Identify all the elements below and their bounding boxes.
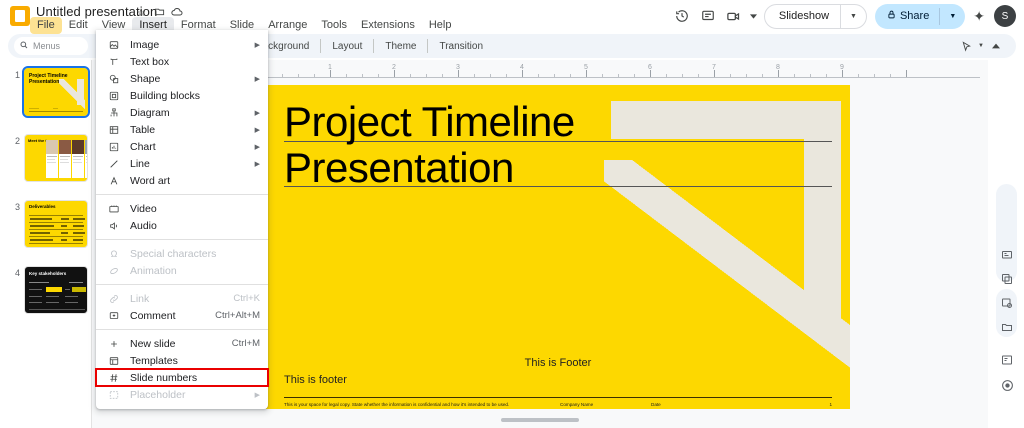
menu-tools[interactable]: Tools (314, 17, 354, 34)
menu-item-audio[interactable]: Audio (96, 217, 268, 234)
ruler-label: 7 (712, 64, 716, 71)
comment-add-icon (106, 311, 122, 321)
layout-button[interactable]: Layout (325, 39, 369, 54)
submenu-arrow-icon: ▶ (255, 391, 260, 399)
menu-item-building-blocks[interactable]: Building blocks (96, 87, 268, 104)
ruler-label: 9 (840, 64, 844, 71)
share-label: Share (900, 10, 929, 22)
table-icon (106, 125, 122, 135)
rail-group-top (996, 184, 1017, 282)
menu-item-shape[interactable]: Shape ▶ (96, 70, 268, 87)
menu-arrange[interactable]: Arrange (261, 17, 314, 34)
gemini-sparkle-icon[interactable]: ✦ (973, 8, 985, 25)
speaker-notes-icon[interactable] (998, 351, 1016, 369)
menu-item-label: Image (130, 39, 159, 51)
divider (373, 39, 374, 53)
menu-item-label: Special characters (130, 248, 216, 260)
image-search-icon[interactable] (998, 294, 1016, 312)
slide-thumbnail-4[interactable]: Key stakeholders (24, 266, 88, 314)
menu-item-placeholder[interactable]: Placeholder ▶ (96, 386, 268, 403)
menu-item-label: Word art (130, 175, 170, 187)
menu-item-shortcut: Ctrl+M (232, 338, 260, 349)
duplicate-slides-icon[interactable] (998, 270, 1016, 288)
title-line-2: Presentation (284, 145, 784, 191)
comment-history-icon[interactable] (695, 3, 721, 29)
meet-camera-icon[interactable] (721, 3, 747, 29)
title-line-1: Project Timeline (284, 99, 784, 145)
ruler-label: 1 (328, 64, 332, 71)
menu-item-shortcut: Ctrl+K (233, 293, 260, 304)
date-text[interactable]: Date (651, 402, 661, 407)
menu-item-comment[interactable]: Comment Ctrl+Alt+M (96, 307, 268, 324)
ruler-baseline (266, 77, 980, 78)
shape-icon (106, 74, 122, 84)
theme-button[interactable]: Theme (378, 39, 423, 54)
menu-item-label: Shape (130, 73, 160, 85)
submenu-arrow-icon: ▶ (255, 109, 260, 117)
menu-item-text-box[interactable]: Text box (96, 53, 268, 70)
menu-item-link[interactable]: Link Ctrl+K (96, 290, 268, 307)
submenu-arrow-icon: ▶ (255, 126, 260, 134)
company-name-text[interactable]: Company Name (560, 402, 593, 407)
search-input[interactable]: Menus (14, 37, 88, 55)
right-rail (988, 60, 1024, 428)
search-icon (20, 41, 28, 51)
ruler-label: 4 (520, 64, 524, 71)
menu-divider (96, 194, 268, 195)
share-button[interactable]: Share ▼ (875, 4, 965, 29)
transition-button[interactable]: Transition (432, 39, 490, 54)
horizontal-scrollbar[interactable] (501, 418, 579, 422)
menu-item-diagram[interactable]: Diagram ▶ (96, 104, 268, 121)
menu-item-label: Line (130, 158, 150, 170)
explore-icon[interactable] (998, 376, 1016, 394)
menu-item-label: Comment (130, 310, 176, 322)
menu-item-slide-numbers[interactable]: Slide numbers (96, 369, 268, 386)
menu-item-word-art[interactable]: Word art (96, 172, 268, 189)
slide-number: 2 (6, 136, 20, 146)
menu-item-video[interactable]: Video (96, 200, 268, 217)
top-right-controls: Slideshow ▼ Share ▼ ✦ S (669, 3, 1016, 29)
menu-item-label: Slide numbers (130, 372, 197, 384)
menu-item-image[interactable]: Image ▶ (96, 36, 268, 53)
insert-dropdown-menu[interactable]: Image ▶ Text box Shape ▶ Building blocks (96, 30, 268, 409)
footer-left-text[interactable]: This is footer (284, 374, 347, 386)
footer-rule (284, 397, 832, 398)
avatar[interactable]: S (994, 5, 1016, 27)
collapse-toolbar-chevron-up-icon[interactable] (986, 36, 1006, 56)
list-item[interactable]: 3 Deliverables (0, 200, 91, 258)
building-blocks-icon (106, 91, 122, 101)
list-item[interactable]: 2 Meet the team (0, 134, 91, 192)
list-item[interactable]: 1 Project Timeline Presentation ———— —— (0, 68, 91, 126)
ruler-label: 6 (648, 64, 652, 71)
menu-item-new-slide[interactable]: New slide Ctrl+M (96, 335, 268, 352)
divider (320, 39, 321, 53)
slideshow-label: Slideshow (765, 10, 840, 22)
menu-item-shortcut: Ctrl+Alt+M (215, 310, 260, 321)
version-history-icon[interactable] (669, 3, 695, 29)
menu-item-label: Chart (130, 141, 156, 153)
omega-icon: Ω (106, 249, 122, 259)
submenu-arrow-icon: ▶ (255, 75, 260, 83)
hash-icon (106, 373, 122, 383)
search-placeholder: Menus (33, 41, 60, 51)
thumb-legal: ———— (29, 107, 39, 110)
menu-item-templates[interactable]: Templates (96, 352, 268, 369)
lock-icon (887, 10, 896, 22)
slideshow-button[interactable]: Slideshow ▼ (764, 4, 867, 29)
menu-item-label: Link (130, 293, 149, 305)
slides-logo-icon (10, 6, 30, 26)
line-icon (106, 159, 122, 169)
ruler-label: 3 (456, 64, 460, 71)
folder-icon[interactable] (998, 318, 1016, 336)
divider (427, 39, 428, 53)
slide-canvas[interactable]: Project Timeline Presentation This is Fo… (266, 85, 850, 409)
menu-item-line[interactable]: Line ▶ (96, 155, 268, 172)
link-icon (106, 294, 122, 304)
submenu-arrow-icon: ▶ (255, 160, 260, 168)
menu-item-label: Video (130, 203, 157, 215)
menu-item-chart[interactable]: Chart ▶ (96, 138, 268, 155)
horizontal-ruler[interactable]: 1 2 3 4 5 6 7 8 9 (266, 65, 988, 79)
select-cursor-icon[interactable] (956, 36, 976, 56)
image-icon (106, 40, 122, 50)
menu-extensions[interactable]: Extensions (354, 17, 422, 34)
slide-thumbnail-1[interactable]: Project Timeline Presentation ———— —— (24, 68, 88, 116)
wordart-icon (106, 176, 122, 186)
plus-icon (106, 339, 122, 349)
menu-divider (96, 329, 268, 330)
audio-icon (106, 221, 122, 231)
ruler-label: 8 (776, 64, 780, 71)
chart-icon (106, 142, 122, 152)
cursor-chevron-down-icon[interactable]: ▼ (976, 43, 986, 49)
chevron-down-icon[interactable]: ▼ (940, 13, 965, 20)
menu-item-label: Animation (130, 265, 177, 277)
slide-thumbnail-3[interactable]: Deliverables (24, 200, 88, 248)
legal-copy-text[interactable]: This is your space for legal copy. State… (284, 402, 509, 407)
placeholder-icon (106, 390, 122, 400)
arrow-shaft-graphic (604, 160, 850, 409)
menu-item-label: Audio (130, 220, 157, 232)
menu-item-label: Text box (130, 56, 169, 68)
menu-item-special-characters[interactable]: Ω Special characters (96, 245, 268, 262)
textbox-icon (106, 57, 122, 67)
menu-item-label: Table (130, 124, 155, 136)
meet-chevron-down-icon[interactable] (747, 3, 760, 29)
thumb-title: Key stakeholders (29, 271, 66, 276)
animation-icon (106, 266, 122, 276)
google-slides-window: Untitled presentation ☆ File Edit View I… (0, 0, 1024, 428)
slide-title-textbox[interactable]: Project Timeline Presentation (284, 99, 784, 191)
menu-item-label: Building blocks (130, 90, 200, 102)
ruler-label: 5 (584, 64, 588, 71)
templates-icon (106, 356, 122, 366)
thumb-company: —— (53, 107, 58, 110)
menu-file[interactable]: File (30, 17, 62, 34)
submenu-arrow-icon: ▶ (255, 143, 260, 151)
ruler-label: 2 (392, 64, 396, 71)
slide-filmstrip[interactable]: 1 Project Timeline Presentation ———— —— … (0, 60, 92, 428)
menu-item-label: Placeholder (130, 389, 185, 401)
presentation-tools-icon[interactable] (998, 246, 1016, 264)
video-icon (106, 204, 122, 214)
diagram-icon (106, 108, 122, 118)
menu-item-label: Templates (130, 355, 178, 367)
footer-rule (29, 111, 83, 112)
top-bar: Untitled presentation ☆ File Edit View I… (0, 0, 1024, 32)
menu-item-label: Diagram (130, 107, 170, 119)
thumb-title: Deliverables (29, 204, 56, 209)
toolbar-right-group: ▼ (956, 36, 1016, 56)
menu-help[interactable]: Help (422, 17, 459, 34)
menu-item-label: New slide (130, 338, 176, 350)
menu-divider (96, 284, 268, 285)
thumb-title: Project Timeline Presentation (29, 74, 87, 85)
page-number-text[interactable]: 1 (829, 402, 832, 407)
slide-number: 4 (6, 268, 20, 278)
menu-divider (96, 239, 268, 240)
menu-edit[interactable]: Edit (62, 17, 95, 34)
footer-center-text[interactable]: This is Footer (266, 357, 850, 369)
submenu-arrow-icon: ▶ (255, 41, 260, 49)
list-item[interactable]: 4 Key stakeholders (0, 266, 91, 324)
menu-item-animation[interactable]: Animation (96, 262, 268, 279)
chevron-down-icon[interactable]: ▼ (841, 13, 866, 20)
slide-number: 1 (6, 70, 20, 80)
slide-number: 3 (6, 202, 20, 212)
slide-thumbnail-2[interactable]: Meet the team (24, 134, 88, 182)
menu-item-table[interactable]: Table ▶ (96, 121, 268, 138)
